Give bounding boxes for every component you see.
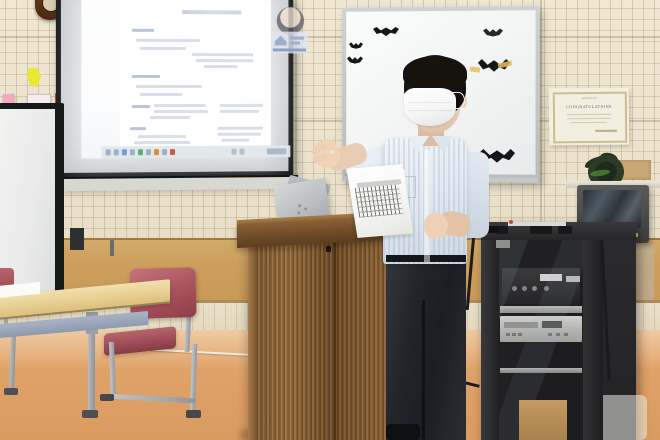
shirt-placket (424, 150, 430, 262)
chair-foot (100, 394, 114, 401)
projection-screen (56, 0, 293, 185)
trouser-seam (422, 300, 425, 440)
presenter-right-hand (424, 213, 448, 239)
taskbar-icon[interactable] (130, 149, 135, 155)
projection-screen-surface (61, 0, 288, 173)
laptop-logo-icon (297, 211, 300, 214)
slide-body-line (150, 116, 190, 119)
tray-icon[interactable] (239, 149, 244, 155)
slide-body-line (218, 133, 261, 136)
slide-body-line (222, 139, 250, 142)
slide-card-line (290, 37, 304, 40)
slide-body-line (136, 85, 202, 88)
slide-body-line (134, 141, 190, 144)
cardboard-box (519, 400, 567, 440)
slide-body-line (220, 110, 259, 113)
windows-taskbar[interactable] (102, 145, 291, 158)
taskbar-icon[interactable] (170, 149, 175, 155)
certificate-title: CONGRATULATIONS (549, 104, 629, 110)
projection-screen-bottom-bar (61, 175, 298, 191)
slide-card-bar (273, 48, 306, 51)
desk-foot (4, 388, 18, 395)
wall-switch (110, 240, 114, 256)
slide-body-line (154, 110, 208, 113)
projected-image (81, 0, 271, 159)
taskbar-icon[interactable] (138, 149, 143, 155)
wall-dark-panel (70, 228, 84, 250)
slide-body-line (196, 59, 253, 62)
mask-pleat (408, 110, 452, 111)
taskbar-clock (267, 148, 287, 154)
taskbar-icon[interactable] (122, 149, 127, 155)
slide-heading (132, 29, 154, 32)
slide-title-text (182, 10, 241, 14)
slide-document (120, 1, 271, 149)
taskbar-start-icon[interactable] (106, 149, 111, 155)
slide-body-line (192, 53, 253, 56)
chair-foot (186, 410, 201, 418)
rack-top-item (558, 226, 572, 234)
certificate-signature (595, 130, 617, 132)
taskbar-icon[interactable] (146, 149, 151, 155)
taskbar-icon[interactable] (114, 149, 119, 155)
slide-body-line (218, 127, 263, 130)
podium-corner-edge (248, 238, 257, 440)
rack-post (583, 236, 603, 440)
desk-foot (82, 410, 98, 418)
rack-top-remote (508, 222, 566, 226)
tray-icon[interactable] (232, 149, 237, 155)
taskbar-icon[interactable] (162, 149, 167, 155)
rack-top-item (530, 225, 552, 234)
presenter-hair-fringe (403, 56, 467, 90)
taskbar-icon[interactable] (154, 149, 159, 155)
slide-heading (130, 127, 146, 130)
rack-tag (496, 240, 510, 248)
laptop-logo-icon (298, 204, 301, 207)
presenter-shoe (386, 424, 420, 440)
presenter-ring (329, 150, 334, 154)
presenter-trousers (386, 256, 466, 440)
desk-leg (88, 326, 95, 414)
slide-body-line (140, 47, 186, 50)
paper-table-grid (355, 184, 404, 217)
slide-body-line (154, 104, 206, 107)
slide-body-line (140, 93, 182, 96)
face-mask (404, 88, 456, 126)
certificate: CERTIFICATE CONGRATULATIONS (549, 88, 630, 146)
remote-power-icon (509, 220, 513, 224)
slide-portrait-illustration (277, 7, 304, 35)
slide-heading (132, 105, 150, 108)
slide-heading (132, 75, 160, 78)
slide-body-line (204, 65, 238, 68)
photo-scene: CERTIFICATE CONGRATULATIONS (0, 0, 660, 440)
slide-body-line (136, 39, 200, 42)
slide-card-line (290, 42, 300, 45)
slide-body-line (138, 135, 186, 138)
slide-body-line (220, 104, 263, 107)
mask-pleat (408, 102, 452, 103)
